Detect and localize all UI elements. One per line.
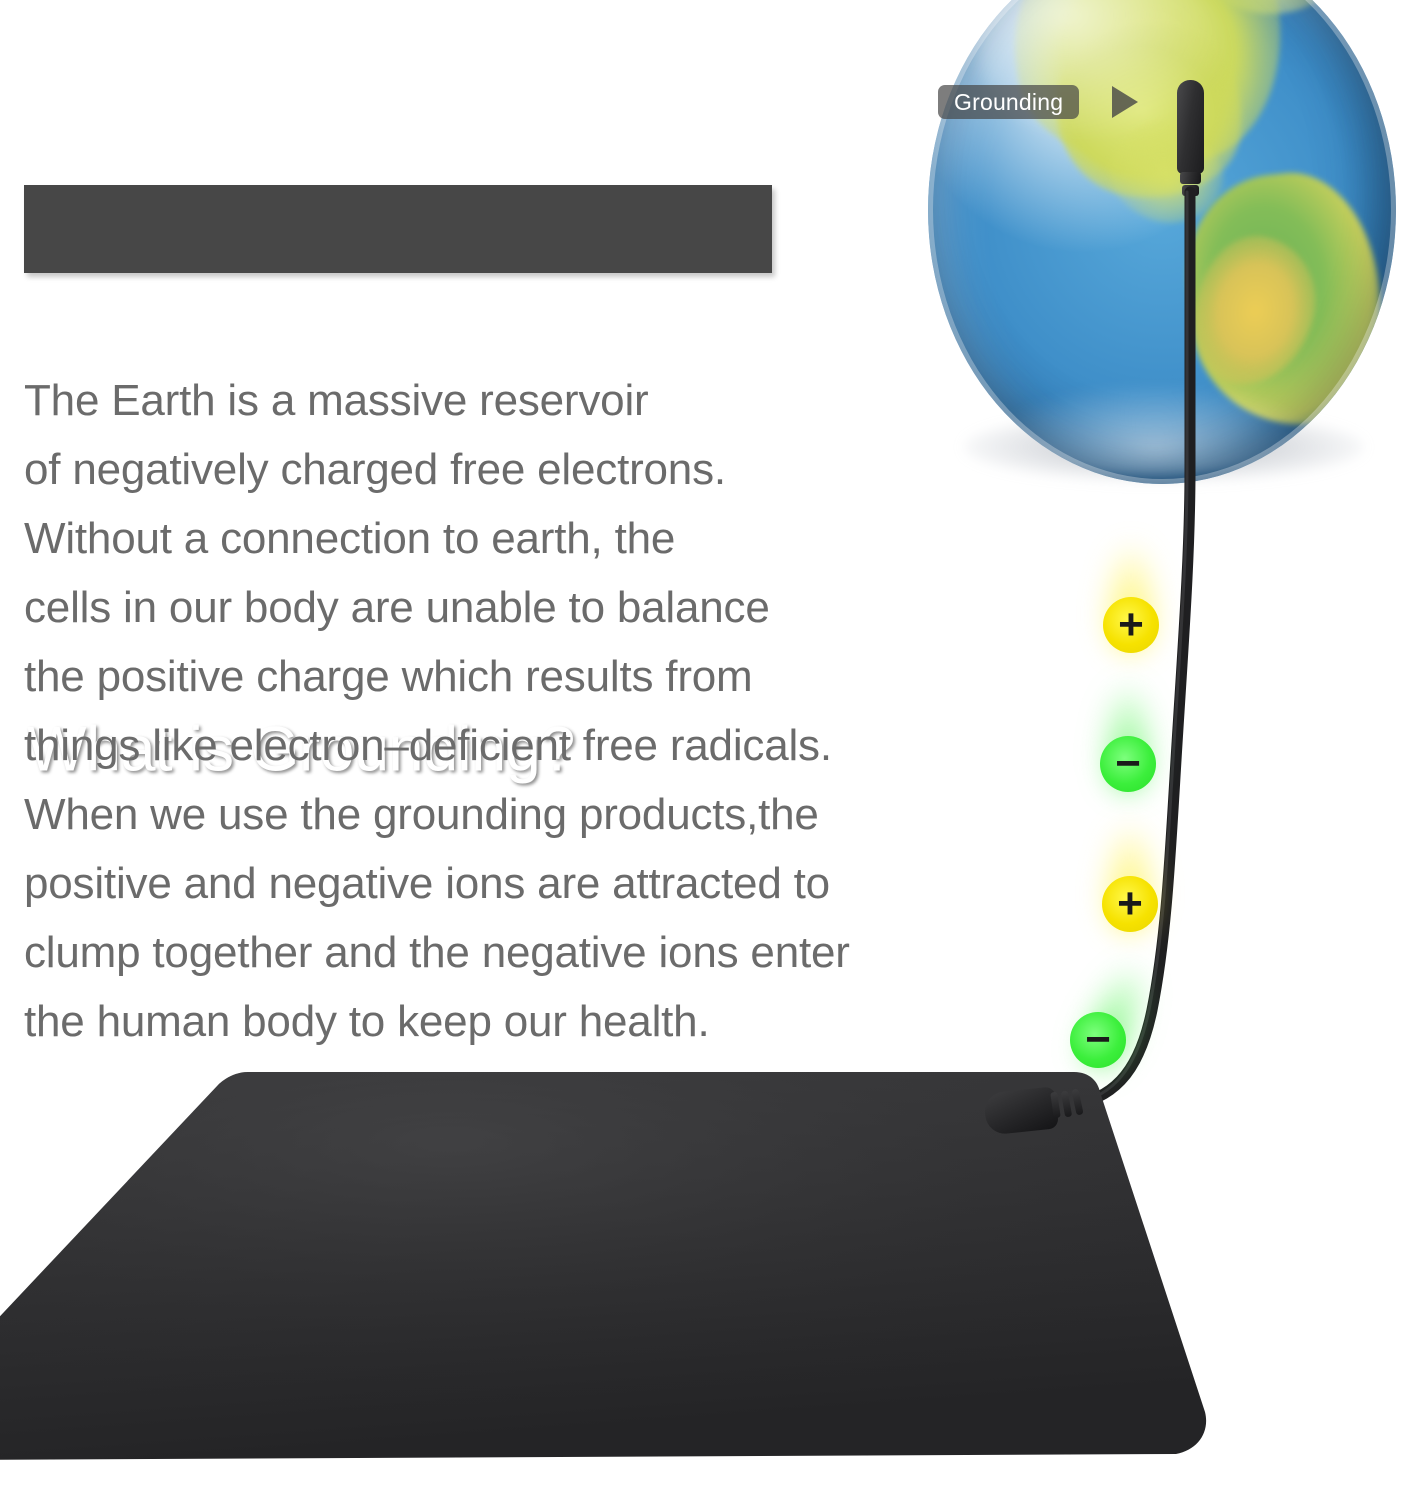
body-line: things like electron–deficient free radi…: [24, 711, 1014, 780]
plug-strain-relief-lower: [1182, 185, 1199, 196]
play-triangle-icon[interactable]: [1112, 86, 1138, 118]
ion-positive-2: +: [1102, 876, 1158, 932]
body-line: the positive charge which results from: [24, 642, 1014, 711]
body-line: cells in our body are unable to balance: [24, 573, 1014, 642]
ion-positive-1: +: [1103, 597, 1159, 653]
body-paragraph: The Earth is a massive reservoir of nega…: [24, 366, 1014, 1056]
body-line: of negatively charged free electrons.: [24, 435, 1014, 504]
grounding-badge[interactable]: Grounding: [938, 85, 1079, 119]
product-infographic: Grounding + − + − What is Grounding? The…: [0, 0, 1407, 1500]
snap-connector-icon: [983, 1086, 1059, 1135]
plug-strain-relief-upper: [1180, 172, 1201, 184]
grounding-mat: [0, 1060, 1407, 1500]
body-line: the human body to keep our health.: [24, 987, 1014, 1056]
body-line: Without a connection to earth, the: [24, 504, 1014, 573]
body-line: The Earth is a massive reservoir: [24, 366, 1014, 435]
body-line: clump together and the negative ions ent…: [24, 918, 1014, 987]
plug-icon: [1177, 80, 1204, 174]
page-title-banner: [24, 185, 772, 273]
ion-negative-1: −: [1100, 736, 1156, 792]
body-line: When we use the grounding products,the: [24, 780, 1014, 849]
body-line: positive and negative ions are attracted…: [24, 849, 1014, 918]
